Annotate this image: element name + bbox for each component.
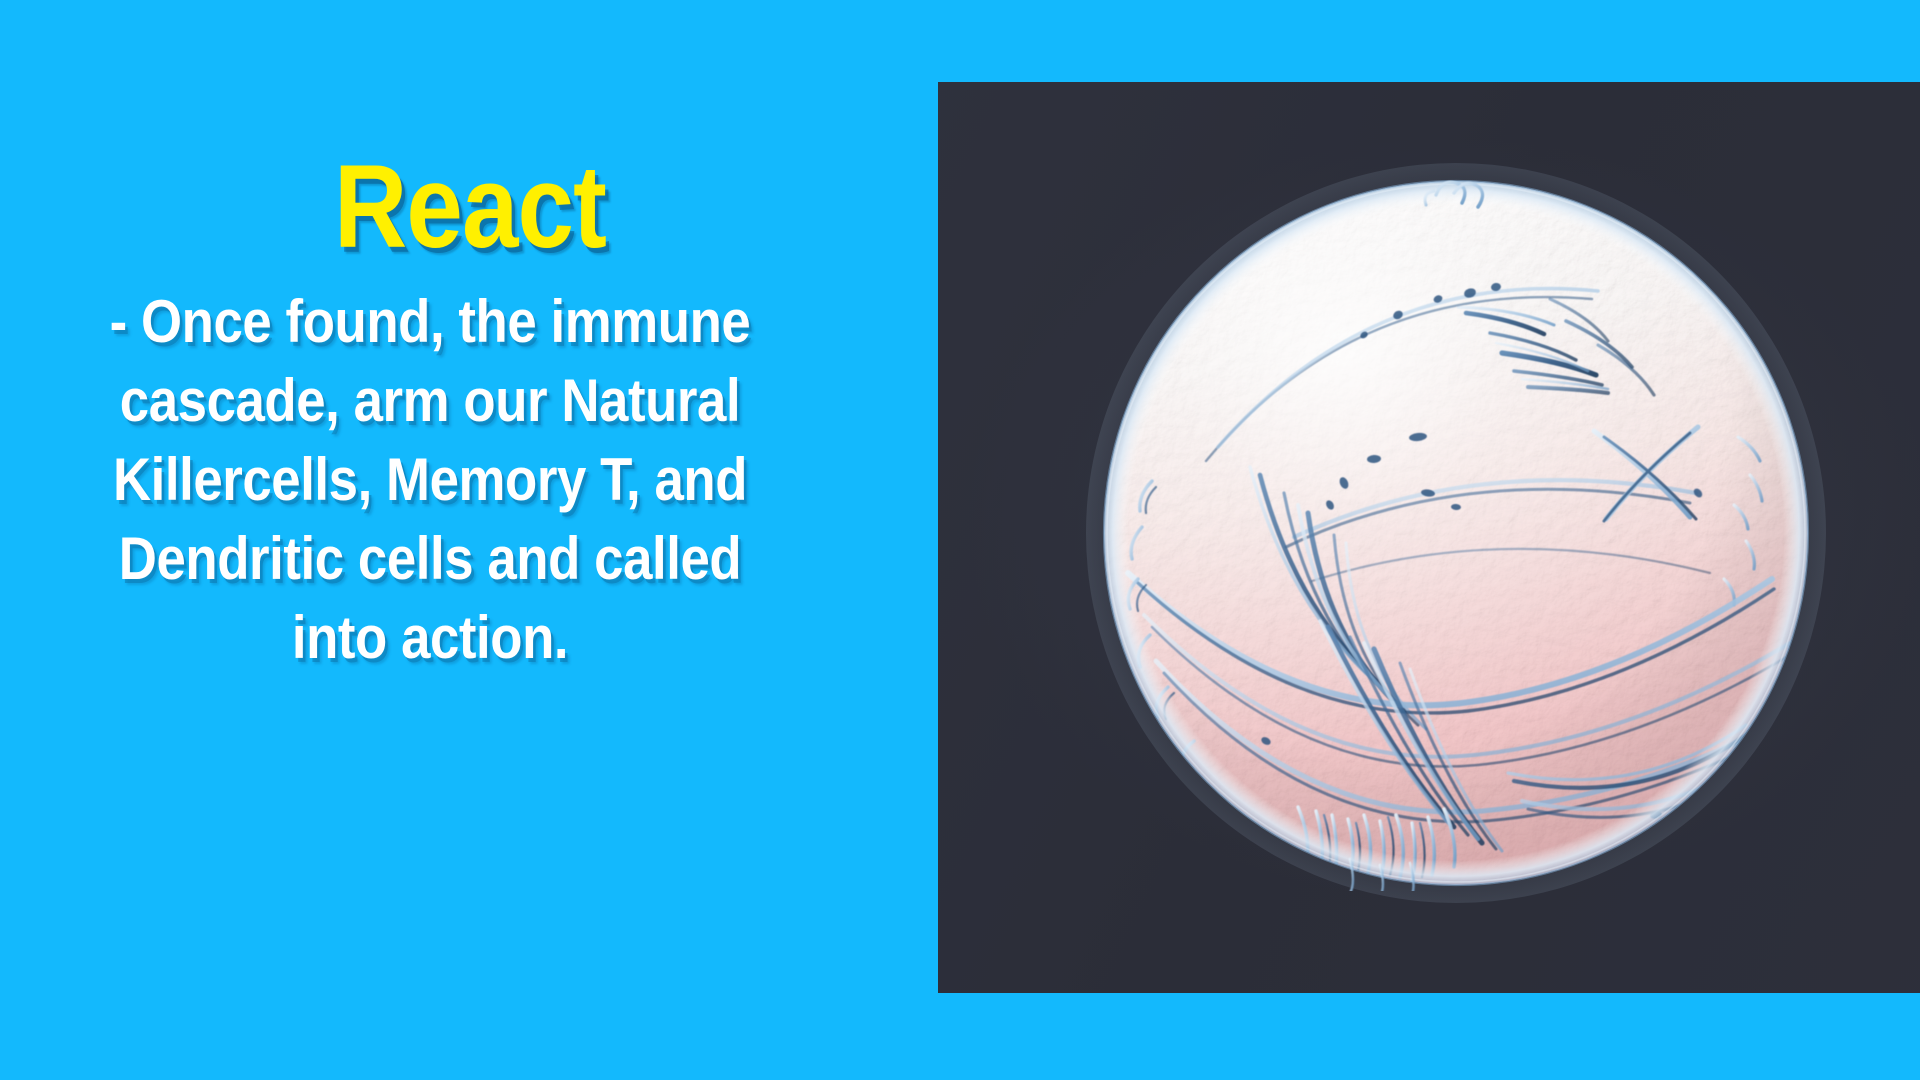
body-line-3: Killercells, Memory T, and <box>52 440 809 519</box>
page-title: React <box>66 148 874 266</box>
body-line-1: - Once found, the immune <box>52 282 809 361</box>
body-line-4: Dendritic cells and called <box>52 519 809 598</box>
slide-root: React - Once found, the immune cascade, … <box>0 0 1920 1080</box>
immune-cell-sphere-figure <box>1098 175 1814 891</box>
body-line-5: into action. <box>52 598 809 677</box>
image-panel <box>938 82 1920 993</box>
body-line-2: cascade, arm our Natural <box>52 361 809 440</box>
body-text-block: - Once found, the immune cascade, arm ou… <box>52 282 809 677</box>
text-column: React - Once found, the immune cascade, … <box>0 0 940 1080</box>
